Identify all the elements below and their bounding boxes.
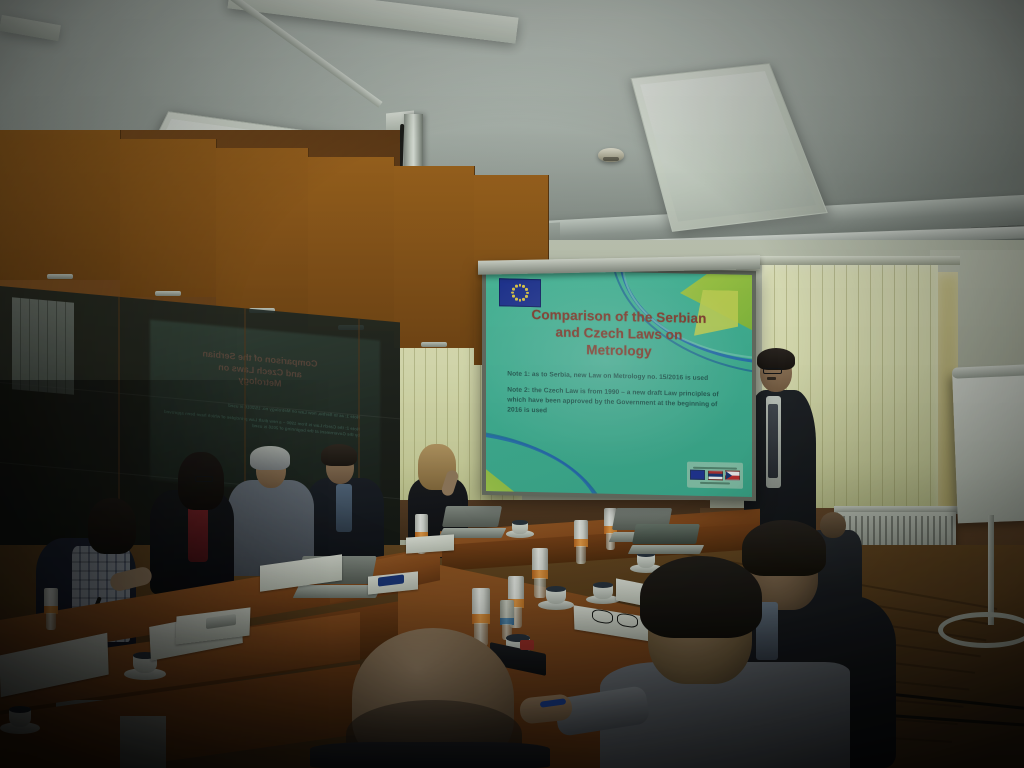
left-window — [12, 297, 74, 394]
logo-text-line — [693, 466, 737, 469]
window-slat — [47, 300, 48, 392]
blind-slat — [894, 262, 895, 516]
window-slat — [38, 300, 39, 392]
blind-slat — [834, 262, 835, 516]
eu-star — [512, 295, 515, 298]
cabinet-handle — [155, 291, 181, 296]
smoke-detector-icon — [598, 148, 624, 162]
red-marker — [520, 640, 534, 650]
eu-star — [515, 285, 518, 288]
eu-star — [515, 298, 518, 301]
coffee-cup — [538, 586, 574, 610]
window-slat — [56, 301, 57, 393]
logo-flag-row — [690, 470, 740, 481]
presenter-glasses-icon — [763, 368, 782, 374]
eu-flag-icon — [499, 278, 541, 307]
eu-stars — [500, 279, 540, 306]
cabinet-door — [394, 166, 475, 348]
presenter-moustache — [767, 377, 776, 380]
slide-title-line-3: Metrology — [510, 340, 728, 362]
slide-title: Comparison of the Serbian and Czech Laws… — [510, 305, 728, 362]
water-bottle — [44, 588, 58, 630]
window-slat — [20, 298, 21, 390]
blind-slat — [846, 262, 847, 516]
slide-note-2: Note 2: the Czech Law is from 1990 – a n… — [507, 386, 730, 420]
blind-slat — [822, 262, 823, 516]
projection-screen: Comparison of the Serbian and Czech Laws… — [482, 265, 756, 501]
slide-project-logo — [687, 462, 743, 489]
cabinet-door — [216, 148, 309, 314]
blind-slat — [930, 262, 931, 516]
blind-slat — [918, 262, 919, 516]
eu-star — [511, 291, 514, 294]
paper-document — [406, 534, 454, 553]
coffee-cup — [0, 706, 40, 734]
laptop — [634, 524, 698, 554]
laptop — [444, 506, 500, 538]
slide-notes: Note 1: as to Serbia, new Law on Metrolo… — [507, 369, 730, 419]
eu-star — [525, 288, 528, 291]
window-slat — [29, 299, 30, 391]
eu-star — [512, 288, 515, 291]
blinds-rail-right — [760, 256, 960, 265]
blind-slat — [870, 262, 871, 516]
cabinet-door — [308, 157, 395, 331]
eu-star — [522, 298, 525, 301]
eu-star — [525, 295, 528, 298]
coffee-cup — [586, 582, 620, 604]
window-slat — [65, 302, 66, 394]
cabinet-handle — [47, 274, 73, 279]
conference-room-photo: Comparison of the Serbian and Czech Laws… — [0, 0, 1024, 768]
flipchart-board — [952, 371, 1024, 524]
blind-slat — [882, 262, 883, 516]
water-bottle — [574, 520, 588, 564]
eu-star — [519, 284, 522, 287]
serbia-flag-mini-icon — [708, 470, 723, 480]
slide-note-1: Note 1: as to Serbia, new Law on Metrolo… — [507, 369, 730, 384]
cabinet-door — [120, 139, 217, 297]
logo-text-line — [700, 481, 730, 484]
eu-star — [526, 292, 529, 295]
eu-flag-mini-icon — [690, 470, 705, 480]
czech-flag-mini-icon — [725, 470, 740, 480]
blind-slat — [858, 262, 859, 516]
flipchart-base — [938, 612, 1024, 648]
blind-slat — [906, 262, 907, 516]
eu-star — [519, 299, 522, 302]
table-leg-panel — [120, 716, 166, 768]
upper-cabinet-row — [0, 130, 400, 310]
attendee-glasses-icon — [195, 476, 213, 482]
cabinet-door — [0, 130, 121, 280]
presentation-slide: Comparison of the Serbian and Czech Laws… — [486, 269, 752, 497]
flipchart-leg — [988, 515, 994, 625]
cabinet-handle — [421, 342, 447, 347]
coffee-cup — [506, 520, 534, 538]
